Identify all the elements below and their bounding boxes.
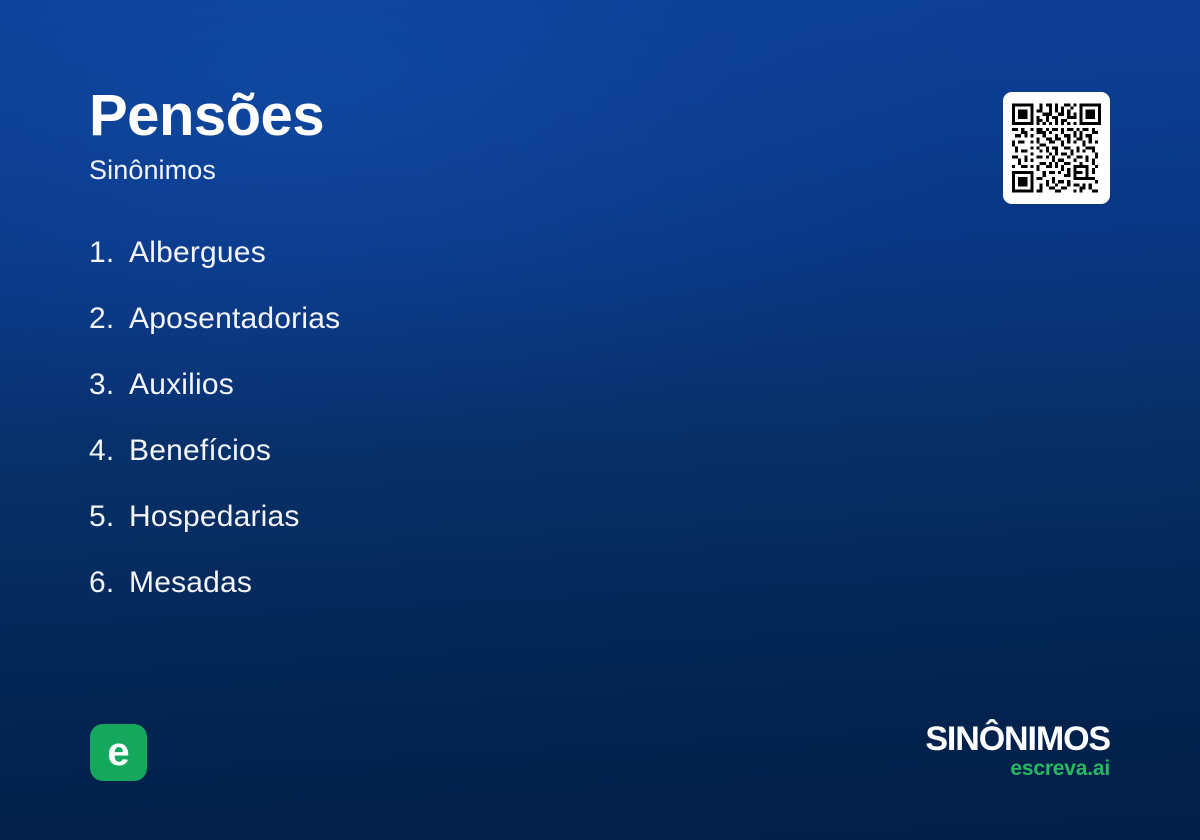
list-item-index: 2. [89, 302, 129, 336]
list-item-word: Hospedarias [129, 500, 300, 534]
synonym-card: Pensões Sinônimos 1. Albergues 2. Aposen… [0, 0, 1200, 840]
header: Pensões Sinônimos [89, 86, 324, 186]
footer-logo-subtitle: escreva.ai [925, 758, 1110, 779]
list-item-word: Auxilios [129, 368, 234, 402]
list-item-word: Albergues [129, 236, 266, 270]
list-item: 1. Albergues [89, 236, 340, 302]
list-item-index: 6. [89, 566, 129, 600]
list-item-index: 4. [89, 434, 129, 468]
page-subtitle: Sinônimos [89, 156, 324, 186]
page-title: Pensões [89, 86, 324, 147]
list-item-index: 1. [89, 236, 129, 270]
qr-code-icon [1012, 101, 1101, 195]
list-item: 2. Aposentadorias [89, 302, 340, 368]
list-item: 4. Benefícios [89, 434, 340, 500]
list-item: 6. Mesadas [89, 566, 340, 632]
qr-code-panel[interactable] [1003, 92, 1110, 204]
list-item-index: 3. [89, 368, 129, 402]
footer-logo[interactable]: SINÔNIMOS escreva.ai [925, 722, 1110, 779]
brand-badge-letter: e [107, 732, 129, 772]
list-item-word: Aposentadorias [129, 302, 340, 336]
list-item-index: 5. [89, 500, 129, 534]
list-item: 3. Auxilios [89, 368, 340, 434]
escreva-e-badge-icon[interactable]: e [90, 724, 147, 781]
list-item: 5. Hospedarias [89, 500, 340, 566]
list-item-word: Mesadas [129, 566, 252, 600]
footer-logo-title: SINÔNIMOS [925, 722, 1110, 756]
synonym-list: 1. Albergues 2. Aposentadorias 3. Auxili… [89, 236, 340, 632]
list-item-word: Benefícios [129, 434, 271, 468]
